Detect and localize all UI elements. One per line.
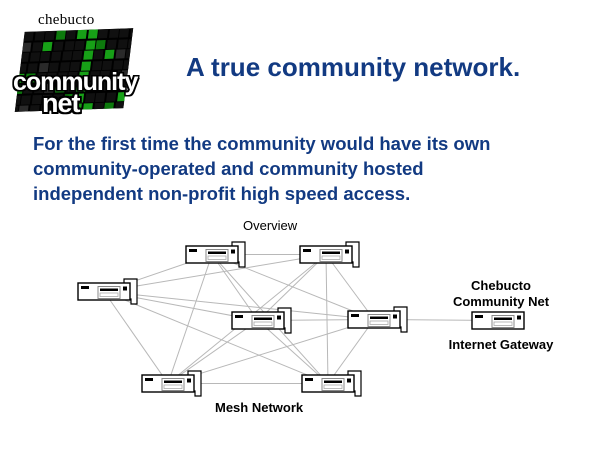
diagram-label-chebucto-community-net: Chebucto Community Net (434, 278, 568, 310)
node-indicator-icon (231, 250, 235, 254)
mesh-node-bottom-left[interactable] (142, 371, 201, 396)
mesh-node-bottom-right[interactable] (302, 371, 361, 396)
node-indicator-icon (123, 287, 127, 291)
mesh-node-right[interactable] (348, 307, 407, 332)
node-drive-slot (208, 252, 226, 255)
mesh-node-left[interactable] (78, 279, 137, 304)
network-diagram-svg (0, 0, 600, 450)
mesh-link (168, 321, 258, 384)
slide-canvas: chebucto community net A true community … (0, 0, 600, 450)
mesh-node-top-right[interactable] (300, 242, 359, 267)
node-indicator-icon (517, 316, 521, 320)
mesh-node-center[interactable] (232, 308, 291, 333)
node-indicator-icon (187, 379, 191, 383)
node-drive-slot-secondary (324, 385, 342, 389)
node-drive-slot-secondary (164, 385, 182, 389)
node-drive-slot (494, 318, 512, 321)
network-diagram (0, 0, 600, 450)
node-drive-slot (254, 318, 272, 321)
node-drive-slot (164, 381, 182, 384)
node-drive-slot (370, 317, 388, 320)
node-drive-slot (322, 252, 340, 255)
node-led-icon (235, 315, 243, 318)
node-drive-slot-secondary (494, 322, 512, 326)
node-led-icon (351, 314, 359, 317)
node-drive-slot-secondary (254, 322, 272, 326)
node-drive-slot-secondary (100, 293, 118, 297)
mesh-link (326, 255, 328, 384)
mesh-link (104, 292, 328, 384)
node-drive-slot-secondary (370, 321, 388, 325)
node-led-icon (303, 249, 311, 252)
node-drive-slot (324, 381, 342, 384)
node-led-icon (81, 286, 89, 289)
node-indicator-icon (277, 316, 281, 320)
mesh-link (212, 255, 258, 321)
mesh-link-group (104, 255, 498, 384)
node-indicator-icon (345, 250, 349, 254)
node-indicator-icon (393, 315, 397, 319)
node-indicator-icon (347, 379, 351, 383)
node-led-icon (145, 378, 153, 381)
diagram-label-mesh-network: Mesh Network (215, 400, 303, 415)
node-drive-slot-secondary (322, 256, 340, 260)
mesh-node-top-left[interactable] (186, 242, 245, 267)
mesh-link (168, 255, 212, 384)
diagram-label-internet-gateway: Internet Gateway (434, 337, 568, 352)
node-led-icon (189, 249, 197, 252)
gateway-node[interactable] (472, 312, 524, 329)
node-drive-slot-secondary (208, 256, 226, 260)
mesh-link (104, 292, 168, 384)
node-led-icon (305, 378, 313, 381)
diagram-label-overview: Overview (243, 218, 297, 233)
node-drive-slot (100, 289, 118, 292)
node-led-icon (475, 315, 483, 318)
